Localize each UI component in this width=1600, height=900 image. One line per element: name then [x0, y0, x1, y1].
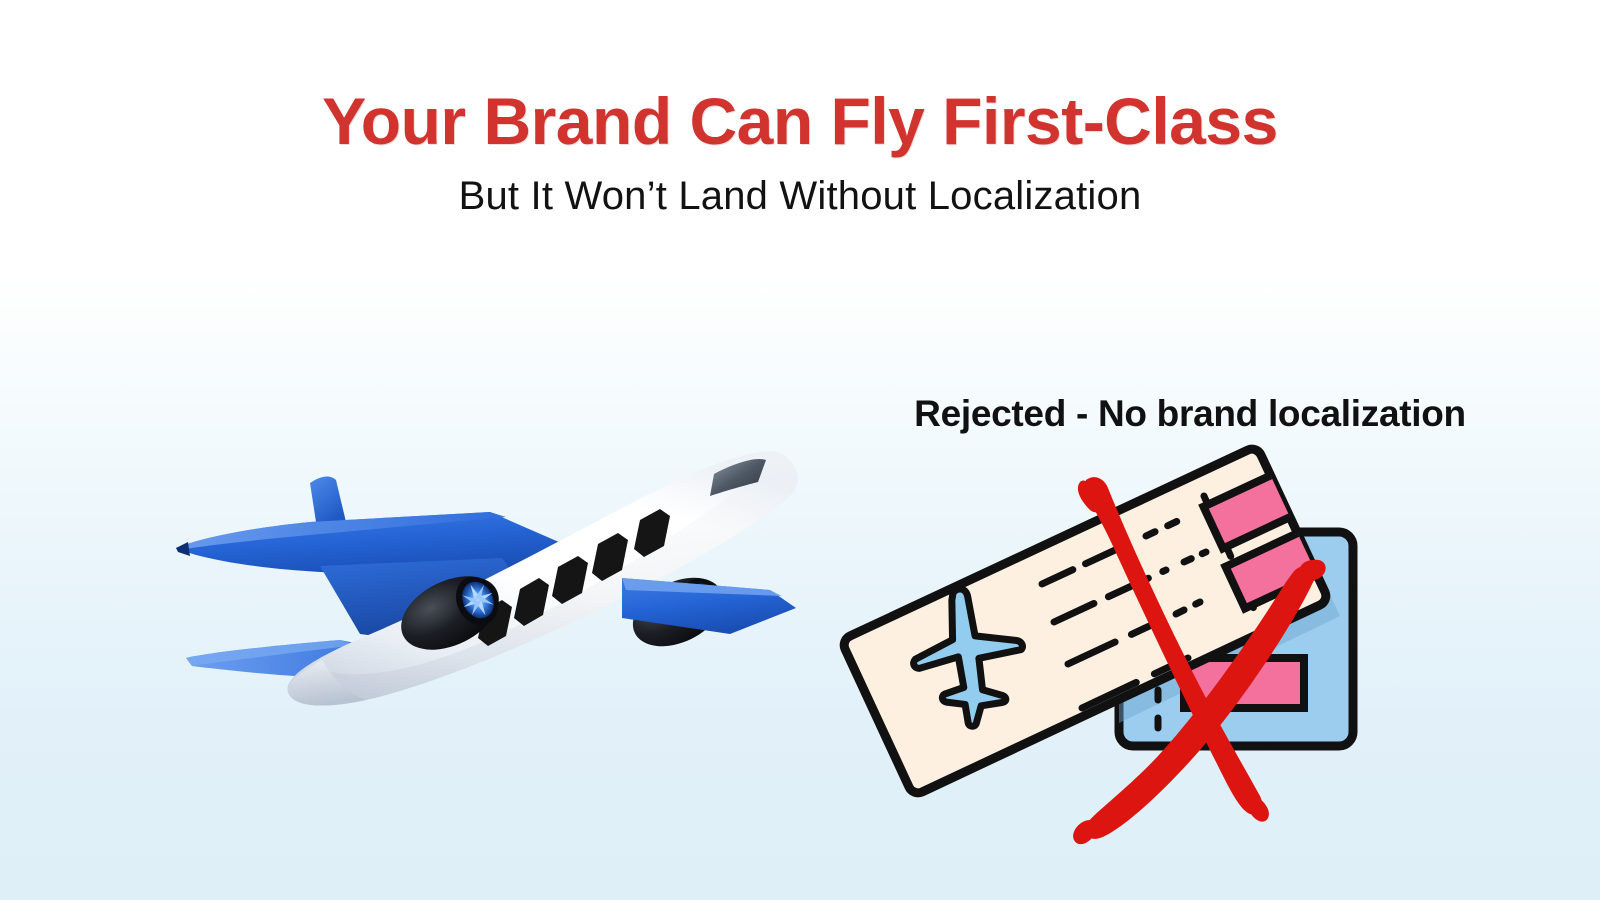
ticket-status-label: Rejected - No brand localization — [880, 393, 1500, 435]
boarding-pass-icon — [828, 440, 1368, 820]
page-title: Your Brand Can Fly First-Class — [0, 88, 1600, 154]
airplane-3d-icon — [170, 438, 810, 728]
plane-tail-fin — [310, 476, 346, 522]
page-subtitle: But It Won’t Land Without Localization — [0, 176, 1600, 216]
page-header: Your Brand Can Fly First-Class But It Wo… — [0, 0, 1600, 216]
